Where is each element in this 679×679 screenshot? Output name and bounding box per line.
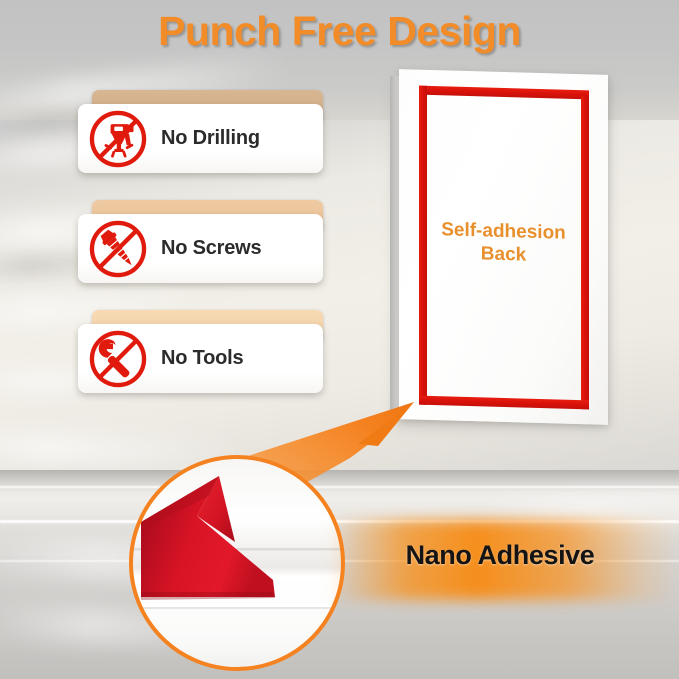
- adhesive-tape-bottom: [419, 396, 589, 410]
- panel-face: Self-adhesion Back: [399, 69, 608, 425]
- card-body: No Tools: [78, 324, 323, 393]
- panel-caption-line2: Back: [399, 240, 608, 269]
- no-tools-icon: [87, 328, 149, 390]
- nano-adhesive-caption: Nano Adhesive: [330, 540, 670, 571]
- card-body: No Screws: [78, 214, 323, 283]
- no-drilling-icon: [87, 108, 149, 170]
- panel-caption: Self-adhesion Back: [399, 217, 608, 269]
- card-label: No Drilling: [161, 127, 260, 150]
- product-infographic: Punch Free Design: [0, 0, 679, 679]
- feature-card-no-drilling: No Drilling: [78, 90, 323, 173]
- card-label: No Screws: [161, 237, 261, 260]
- card-label: No Tools: [161, 347, 243, 370]
- adhesive-tape-top: [419, 86, 589, 100]
- no-screws-icon: [87, 218, 149, 280]
- product-panel: Self-adhesion Back: [390, 72, 608, 424]
- feature-card-no-tools: No Tools: [78, 310, 323, 393]
- feature-card-no-screws: No Screws: [78, 200, 323, 283]
- magnifier-circle-icon: [123, 452, 351, 674]
- card-body: No Drilling: [78, 104, 323, 173]
- page-title: Punch Free Design: [0, 8, 679, 55]
